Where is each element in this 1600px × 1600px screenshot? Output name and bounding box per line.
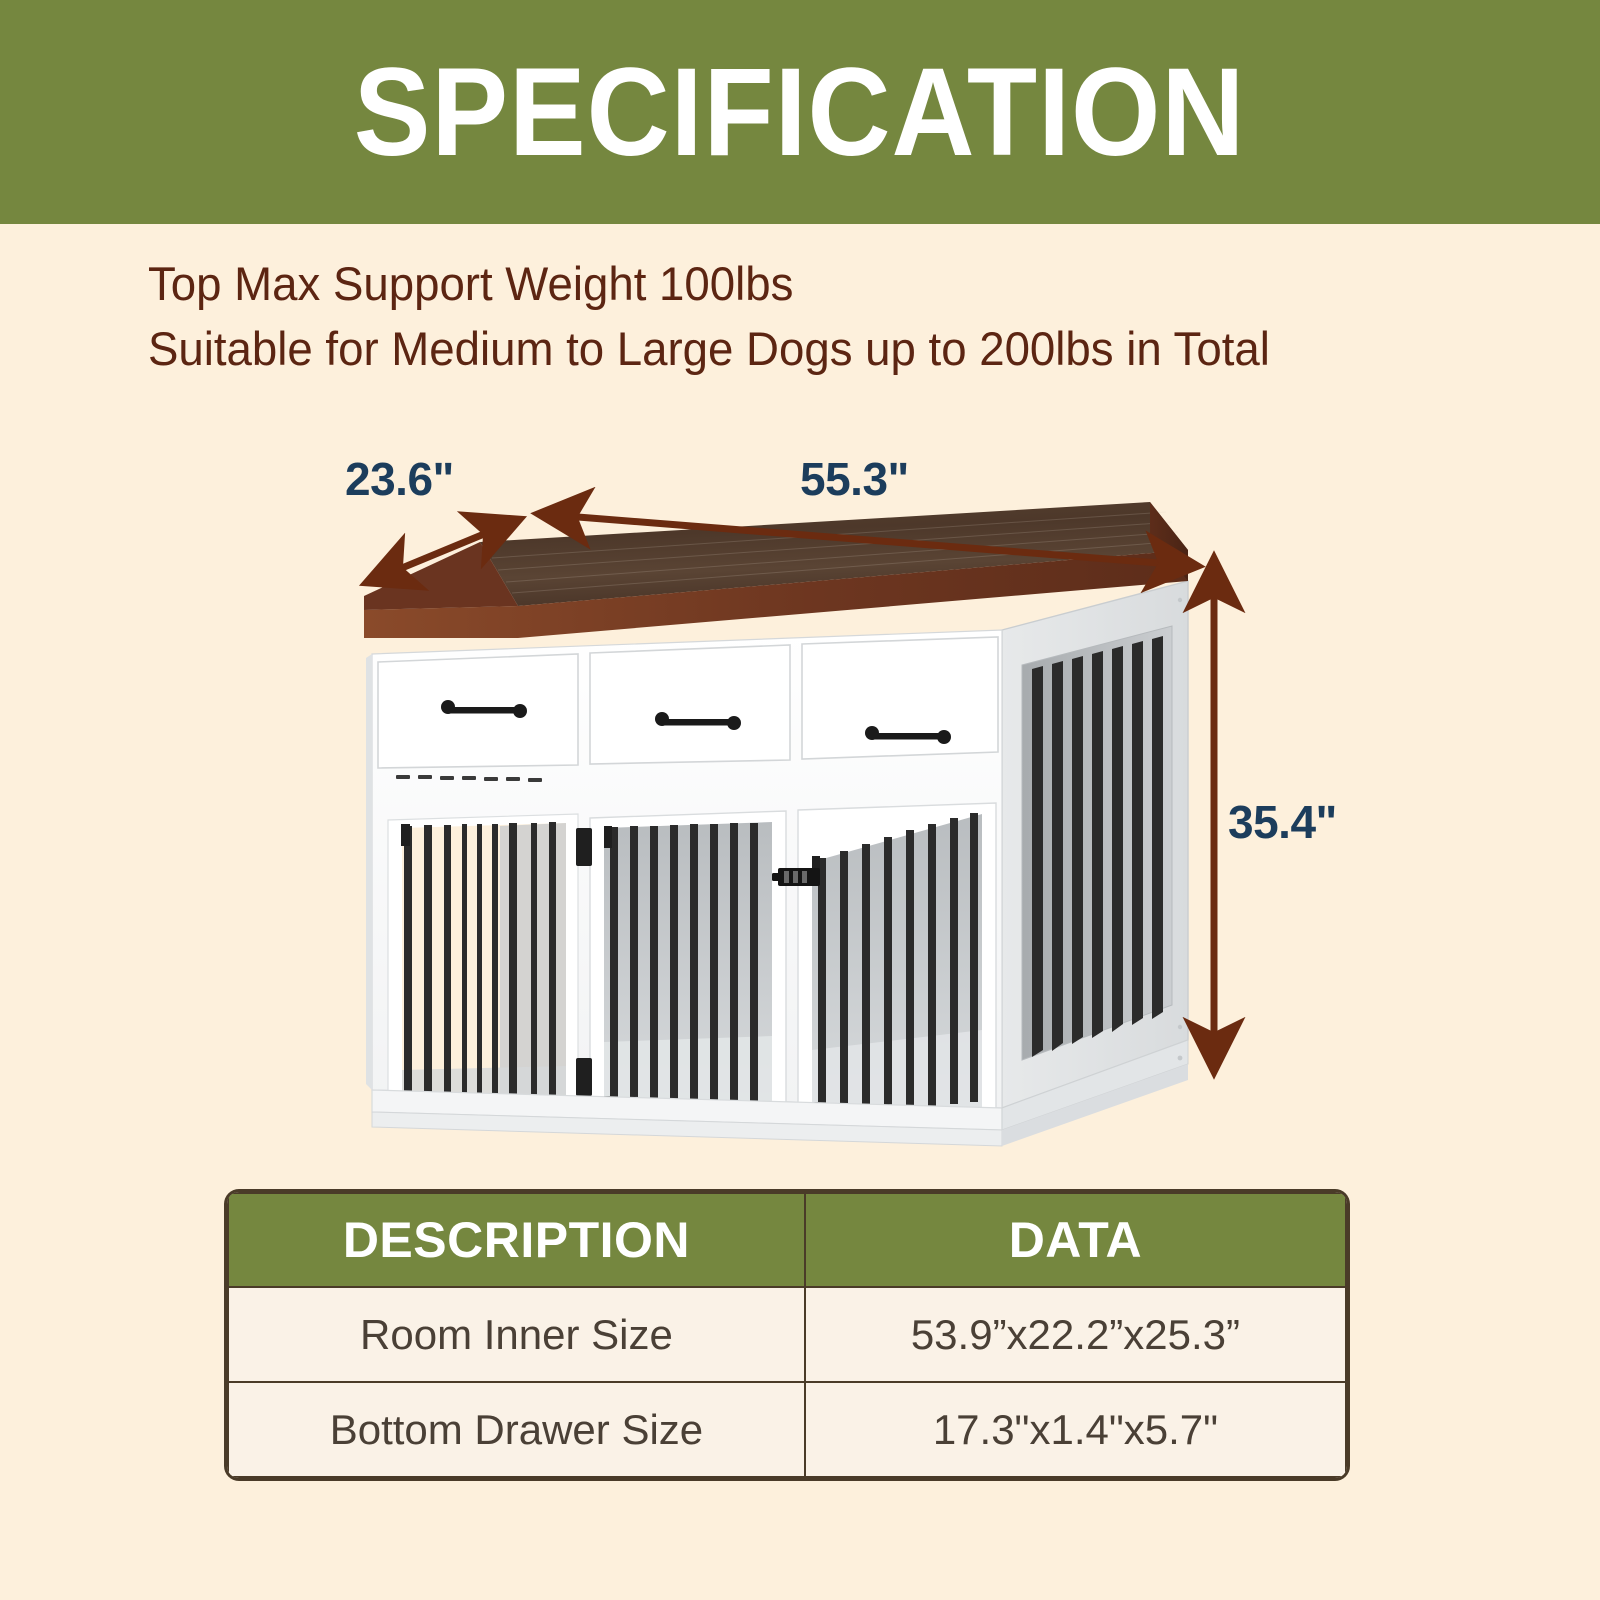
spec-note-line-1: Top Max Support Weight 100lbs	[148, 252, 1428, 317]
table-cell-description: Room Inner Size	[228, 1287, 805, 1382]
door-latch-icon	[772, 868, 820, 886]
dimension-label-depth: 23.6"	[345, 452, 454, 506]
page-title: SPECIFICATION	[354, 50, 1246, 175]
table-row: Room Inner Size 53.9”x22.2”x25.3”	[228, 1287, 1346, 1382]
dimension-label-height: 35.4"	[1228, 795, 1337, 849]
specification-table: DESCRIPTION DATA Room Inner Size 53.9”x2…	[227, 1192, 1347, 1478]
spec-notes: Top Max Support Weight 100lbs Suitable f…	[148, 252, 1468, 382]
table-cell-description: Bottom Drawer Size	[228, 1382, 805, 1477]
header-band: SPECIFICATION	[0, 0, 1600, 224]
product-illustration	[0, 430, 1600, 1160]
table-header-row: DESCRIPTION DATA	[228, 1193, 1346, 1287]
table-header-data: DATA	[805, 1193, 1346, 1287]
table-cell-data: 17.3"x1.4"x5.7"	[805, 1382, 1346, 1477]
crate-center-door	[576, 811, 786, 1136]
spec-note-line-2: Suitable for Medium to Large Dogs up to …	[148, 317, 1428, 382]
left-crate-bars	[404, 822, 556, 1118]
crate-left-compartment	[388, 814, 578, 1130]
table-row: Bottom Drawer Size 17.3"x1.4"x5.7"	[228, 1382, 1346, 1477]
crate-right-door	[772, 803, 996, 1137]
cabinet-body	[364, 502, 1188, 1146]
table-header-description: DESCRIPTION	[228, 1193, 805, 1287]
dimension-label-width: 55.3"	[800, 452, 909, 506]
table-cell-data: 53.9”x22.2”x25.3”	[805, 1287, 1346, 1382]
